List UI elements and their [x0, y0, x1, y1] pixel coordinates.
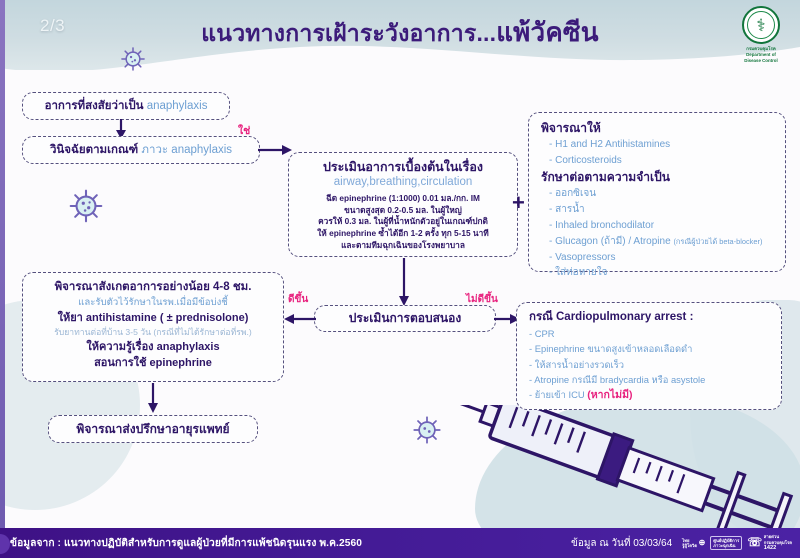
page-number: 2/3: [40, 16, 65, 36]
arrow-response-to-observe: [284, 309, 316, 329]
node-suspected-symptoms-text: อาการที่สงสัยว่าเป็น anaphylaxis: [45, 97, 208, 115]
footer-badges: ไทย รู้สู้โควิด ⊕ ศูนย์ปฏิบัติการ ภาวะฉุ…: [680, 533, 800, 552]
ministry-of-health-logo: ⚕ กรมควบคุมโรค Department of Disease Con…: [738, 6, 784, 58]
page-title-normal: แนวทางการเฝ้าระวังอาการ...: [201, 20, 496, 46]
footer-bar: ข้อมูลจาก : แนวทางปฏิบัติสำหรับการดูแลผู…: [0, 528, 800, 558]
assess-line: ฉีด epinephrine (1:1000) 0.01 มล./กก. IM: [295, 193, 511, 205]
virus-icon: [120, 46, 146, 72]
arrest-icu-note: (หากไม่มี): [587, 389, 632, 401]
node-consult-internist[interactable]: พิจารณาส่งปรึกษาอายุรแพทย์: [48, 415, 258, 443]
edge-label-yes-text: ใช่: [238, 125, 250, 137]
badge-hotline-1422[interactable]: ☏ สายด่วน กรมควบคุมโรค 1422: [745, 533, 794, 552]
arrest-item: - Epinephrine ขนาดสูงเข้าหลอดเลือดดำ: [529, 341, 773, 356]
treat-glucagon-main: - Glucagon (ถ้ามี) / Atropine: [549, 236, 673, 247]
node-observation-instructions[interactable]: พิจารณาสังเกตอาการอย่างน้อย 4-8 ชม. และร…: [22, 272, 284, 382]
treat-item: - ใส่ท่อหายใจ: [541, 265, 777, 281]
diagnose-text-mid: ภาวะ: [141, 144, 171, 156]
footer-source: ข้อมูลจาก : แนวทางปฏิบัติสำหรับการดูแลผู…: [0, 535, 362, 551]
treat-item: - Vasopressors: [541, 250, 777, 266]
arrest-icu-main: - ย้ายเข้า ICU: [529, 389, 587, 400]
arrow-observe-to-consult: [144, 383, 162, 413]
badge-emergency-operations-center[interactable]: ศูนย์ปฏิบัติการ ภาวะฉุกเฉิน: [710, 536, 742, 551]
arrest-item: - Atropine กรณีมี bradycardia หรือ asyst…: [529, 372, 773, 387]
observe-line-5: ให้ความรู้เรื่อง anaphylaxis: [31, 339, 275, 356]
observe-line-2: และรับตัวไว้รักษาในรพ.เมื่อมีข้อบ่งชี้: [31, 296, 275, 310]
treat-item: - H1 and H2 Antihistamines: [541, 137, 777, 153]
node-evaluate-response[interactable]: ประเมินการตอบสนอง: [314, 305, 496, 332]
treat-item: - Inhaled bronchodilator: [541, 218, 777, 234]
arrest-heading: กรณี Cardiopulmonary arrest :: [529, 309, 773, 326]
badge3-line2: กรมควบคุมโรค: [764, 540, 792, 545]
arrest-item-icu: - ย้ายเข้า ICU (หากไม่มี): [529, 387, 773, 404]
arrow-assess-to-response: [395, 258, 413, 306]
badge2-line2: ภาวะฉุกเฉิน: [713, 543, 739, 548]
badge1-line2: รู้สู้โควิด: [682, 543, 697, 548]
edge-label-improved-text: ดีขึ้น: [288, 294, 308, 305]
node-evaluate-response-text: ประเมินการตอบสนอง: [349, 309, 461, 328]
suspect-text-th: อาการที่สงสัยว่าเป็น: [45, 100, 147, 112]
node-initial-assessment[interactable]: ประเมินอาการเบื้องต้นในเรื่อง airway,bre…: [288, 152, 518, 257]
observe-line-4: รับยาทานต่อที่บ้าน 3-5 วัน (กรณีที่ไม่ได…: [31, 326, 275, 338]
suspect-text-en: anaphylaxis: [147, 100, 208, 112]
page-title-emphasis: แพ้วัคซีน: [496, 17, 599, 47]
syringe-illustration: [415, 405, 800, 535]
diagnose-text-en: anaphylaxis: [171, 144, 232, 156]
logo-caption-en: Department of Disease Control: [738, 52, 784, 64]
arrest-item: - CPR: [529, 326, 773, 341]
node-suspected-symptoms[interactable]: อาการที่สงสัยว่าเป็น anaphylaxis: [22, 92, 230, 120]
treat-item-glucagon: - Glucagon (ถ้ามี) / Atropine (กรณีผู้ป่…: [541, 234, 777, 250]
assess-line: ให้ epinephrine ซ้ำได้อีก 1-2 ครั้ง ทุก …: [295, 228, 511, 240]
treat-heading-1: พิจารณาให้: [541, 120, 777, 137]
node-consider-treatment[interactable]: พิจารณาให้ - H1 and H2 Antihistamines - …: [528, 112, 786, 272]
assess-line: และตามทีมฉุกเฉินของโรงพยาบาล: [295, 240, 511, 252]
logo-caption: กรมควบคุมโรค Department of Disease Contr…: [738, 46, 784, 64]
left-accent-strip: [0, 0, 5, 528]
globe-icon: ⊕: [699, 538, 706, 548]
diagnose-text-th: วินิจฉัยตามเกณฑ์: [50, 144, 141, 156]
treat-glucagon-note: (กรณีผู้ป่วยได้ beta-blocker): [673, 237, 762, 246]
assess-subheading: airway,breathing,circulation: [295, 175, 511, 191]
observe-line-1: พิจารณาสังเกตอาการอย่างน้อย 4-8 ชม.: [31, 279, 275, 296]
edge-label-yes: ใช่: [238, 122, 250, 139]
page-title: แนวทางการเฝ้าระวังอาการ...แพ้วัคซีน: [150, 12, 650, 53]
observe-line-3: ให้ยา antihistamine ( ± prednisolone): [31, 310, 275, 327]
treat-heading-2: รักษาต่อตามความจำเป็น: [541, 169, 777, 186]
badge-thai-knows-covid[interactable]: ไทย รู้สู้โควิด ⊕: [680, 537, 707, 550]
observe-line-6: สอนการใช้ epinephrine: [31, 355, 275, 372]
plus-icon: +: [512, 192, 525, 214]
badge3-number: 1422: [764, 545, 792, 552]
virus-icon: [68, 188, 104, 224]
arrow-diagnose-to-assess: [258, 140, 292, 160]
assess-line: ขนาดสูงสุด 0.2-0.5 มล. ในผู้ใหญ่: [295, 205, 511, 217]
arrest-item: - ให้สารน้ำอย่างรวดเร็ว: [529, 357, 773, 372]
edge-label-improved: ดีขึ้น: [288, 292, 308, 307]
node-diagnose-criteria-text: วินิจฉัยตามเกณฑ์ ภาวะ anaphylaxis: [50, 141, 232, 159]
assess-heading: ประเมินอาการเบื้องต้นในเรื่อง: [295, 159, 511, 175]
footer-date: ข้อมูล ณ วันที่ 03/03/64: [571, 536, 680, 551]
node-cardiopulmonary-arrest[interactable]: กรณี Cardiopulmonary arrest : - CPR - Ep…: [516, 302, 782, 410]
edge-label-not-improved: ไม่ดีขึ้น: [466, 292, 498, 307]
treat-item: - ออกซิเจน: [541, 186, 777, 202]
caduceus-glyph: ⚕: [756, 17, 765, 34]
treat-item: - Corticosteroids: [541, 153, 777, 169]
node-diagnose-criteria[interactable]: วินิจฉัยตามเกณฑ์ ภาวะ anaphylaxis: [22, 136, 260, 164]
treat-item: - สารน้ำ: [541, 202, 777, 218]
slide-canvas: 2/3 แนวทางการเฝ้าระวังอาการ...แพ้วัคซีน …: [0, 0, 800, 558]
phone-icon: ☏: [747, 535, 762, 550]
assess-line: ควรให้ 0.3 มล. ในผู้ที่น้ำหนักตัวอยู่ในเ…: [295, 216, 511, 228]
edge-label-not-improved-text: ไม่ดีขึ้น: [466, 294, 498, 305]
node-consult-internist-text: พิจารณาส่งปรึกษาอายุรแพทย์: [76, 420, 229, 439]
caduceus-icon: ⚕: [742, 6, 780, 44]
